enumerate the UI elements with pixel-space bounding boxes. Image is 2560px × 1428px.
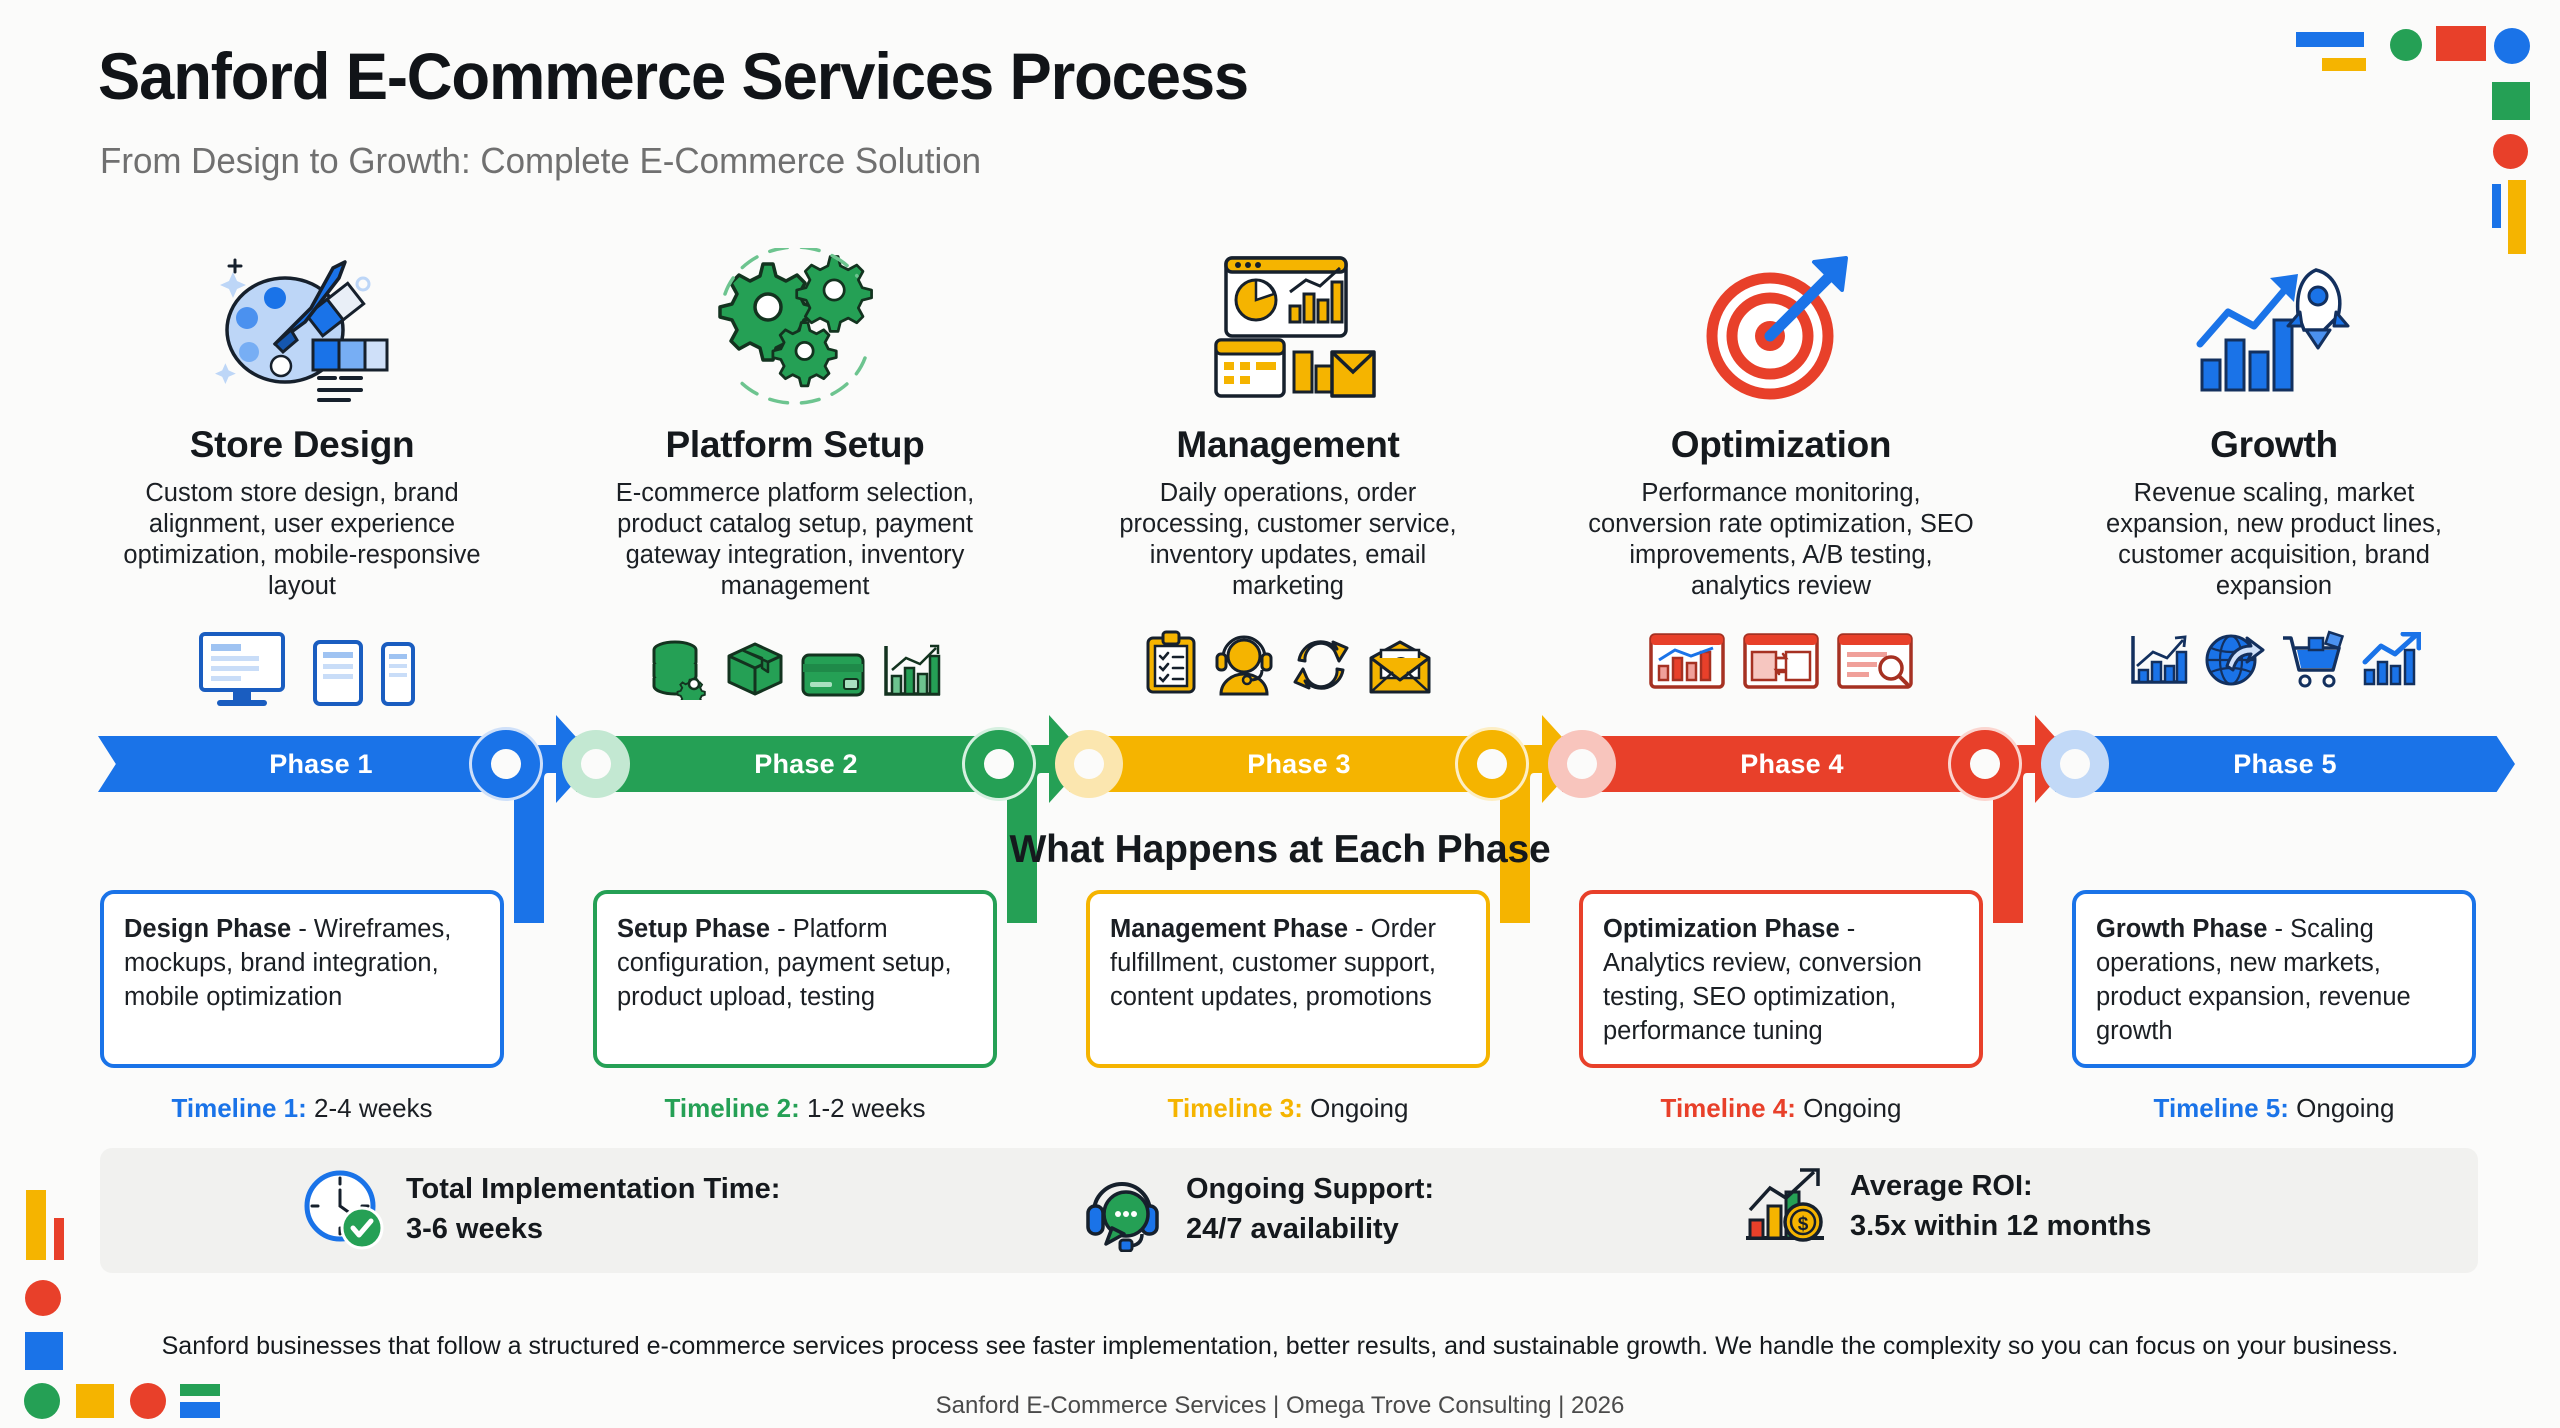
phase-heading: Optimization: [1579, 424, 1983, 466]
deco-blue-bar: [2296, 32, 2364, 47]
globe-share-icon: [2203, 630, 2265, 690]
analytics-report-icon: [1647, 630, 1727, 692]
phase-card-5: Growth Phase - Scaling operations, new m…: [2072, 890, 2476, 1068]
section-title-what-happens: What Happens at Each Phase: [0, 828, 2560, 872]
timeline-value: 2-4 weeks: [314, 1093, 433, 1123]
timeline-1: Timeline 1: 2-4 weeks: [100, 1093, 504, 1124]
page-subtitle: From Design to Growth: Complete E-Commer…: [100, 140, 981, 182]
card-lead: Growth Phase: [2096, 915, 2267, 943]
phase-3-sub-icons: @: [1086, 630, 1490, 696]
stat-value: 24/7 availability: [1186, 1209, 1434, 1249]
phase-card-2: Setup Phase - Platform configuration, pa…: [593, 890, 997, 1068]
phase-bar-label: Phase 5: [2055, 736, 2515, 792]
roi-chart-coin-icon: $: [1740, 1166, 1830, 1246]
timeline-3: Timeline 3: Ongoing: [1086, 1093, 1490, 1124]
clock-check-icon: [300, 1166, 386, 1252]
deco-blue-circle: [2494, 28, 2530, 64]
deco-red-vbar: [54, 1218, 64, 1260]
timeline-5: Timeline 5: Ongoing: [2072, 1093, 2476, 1124]
phase-columns: Store Design Custom store design, brand …: [0, 238, 2560, 718]
svg-text:$: $: [1798, 1214, 1809, 1235]
timeline-value: Ongoing: [2296, 1093, 2394, 1123]
phase-progress-bar: Phase 1 Phase 2 Phase 3 Phase: [0, 736, 2560, 798]
phase-heading: Store Design: [100, 424, 504, 466]
database-gear-icon: [648, 638, 710, 700]
phase-description: Performance monitoring, conversion rate …: [1579, 478, 1983, 602]
credit-card-icon: [800, 650, 866, 700]
timeline-label: Timeline 5:: [2154, 1093, 2289, 1123]
stat-implementation-time: Total Implementation Time: 3-6 weeks: [300, 1166, 780, 1252]
email-envelope-icon: @: [1367, 640, 1433, 696]
phase-description: Daily operations, order processing, cust…: [1086, 478, 1490, 602]
phase-connector-4-start: [1548, 730, 1616, 798]
dashboard-analytics-icon: [1086, 238, 1490, 418]
phase-card-3: Management Phase - Order fulfillment, cu…: [1086, 890, 1490, 1068]
smartphone-icon: [379, 640, 417, 708]
infographic-page: Sanford E-Commerce Services Process From…: [0, 0, 2560, 1428]
phase-connector-3: [1458, 730, 1526, 798]
arrow-phase3-to-phase4: [1456, 693, 1586, 923]
seo-search-page-icon: [1835, 630, 1915, 692]
shopping-cart-icon: [2279, 630, 2345, 690]
desktop-monitor-icon: [187, 630, 297, 708]
phase-2-sub-icons: [593, 638, 997, 700]
decoration-top-right: [2296, 22, 2546, 262]
clipboard-checklist-icon: [1143, 630, 1199, 696]
deco-red-square: [2436, 26, 2486, 61]
arrow-phase4-to-phase5: [1949, 693, 2079, 923]
trending-up-icon: [2359, 632, 2421, 690]
timeline-label: Timeline 4:: [1661, 1093, 1796, 1123]
timeline-label: Timeline 2:: [664, 1093, 799, 1123]
deco-red-circle: [2493, 134, 2528, 169]
phase-connector-2: [965, 730, 1033, 798]
page-title: Sanford E-Commerce Services Process: [98, 38, 1248, 114]
stat-value: 3.5x within 12 months: [1850, 1206, 2151, 1246]
footer-note: Sanford businesses that follow a structu…: [0, 1332, 2560, 1361]
stat-ongoing-support: Ongoing Support: 24/7 availability: [1080, 1166, 1434, 1252]
phase-description: Revenue scaling, market expansion, new p…: [2072, 478, 2476, 602]
phase-1-sub-icons: [100, 630, 504, 708]
palette-brush-icon: [100, 238, 504, 418]
card-lead: Design Phase: [124, 915, 291, 943]
stat-average-roi: $ Average ROI: 3.5x within 12 months: [1740, 1166, 2151, 1246]
phase-column-1: Store Design Custom store design, brand …: [100, 238, 504, 602]
phase-connector-3-start: [1055, 730, 1123, 798]
phase-connector-5-start: [2041, 730, 2109, 798]
card-lead: Optimization Phase: [1603, 915, 1840, 943]
phase-4-sub-icons: [1579, 630, 1983, 692]
phase-column-2: Platform Setup E-commerce platform selec…: [593, 238, 997, 602]
phase-connector-2-start: [562, 730, 630, 798]
timeline-2: Timeline 2: 1-2 weeks: [593, 1093, 997, 1124]
phase-5-sub-icons: [2072, 630, 2476, 690]
summary-stats-strip: Total Implementation Time: 3-6 weeks Ong…: [100, 1148, 2478, 1273]
phase-connector-4: [1951, 730, 2019, 798]
deco-green-square: [2492, 82, 2530, 120]
stat-value: 3-6 weeks: [406, 1209, 780, 1249]
headset-agent-icon: [1213, 632, 1275, 696]
timeline-value: Ongoing: [1310, 1093, 1408, 1123]
headset-support-icon: [1080, 1166, 1166, 1252]
deco-yellow-bar: [2322, 58, 2366, 71]
phase-heading: Management: [1086, 424, 1490, 466]
arrow-phase2-to-phase3: [963, 693, 1093, 923]
footer-credit: Sanford E-Commerce Services | Omega Trov…: [0, 1392, 2560, 1420]
timeline-value: 1-2 weeks: [807, 1093, 926, 1123]
stat-label: Total Implementation Time:: [406, 1169, 780, 1209]
phase-description: Custom store design, brand alignment, us…: [100, 478, 504, 602]
phase-detail-cards: Design Phase - Wireframes, mockups, bran…: [0, 890, 2560, 1070]
timeline-label: Timeline 1:: [171, 1093, 306, 1123]
stat-label: Ongoing Support:: [1186, 1169, 1434, 1209]
arrow-phase1-to-phase2: [470, 693, 600, 923]
card-lead: Setup Phase: [617, 915, 770, 943]
phase-column-4: Optimization Performance monitoring, con…: [1579, 238, 1983, 602]
gears-icon: [593, 238, 997, 418]
stat-label: Average ROI:: [1850, 1166, 2151, 1206]
bar-chart-icon: [880, 642, 942, 700]
phase-heading: Platform Setup: [593, 424, 997, 466]
target-arrow-icon: [1579, 238, 1983, 418]
phase-card-4: Optimization Phase - Analytics review, c…: [1579, 890, 1983, 1068]
phase-column-3: Management Daily operations, order proce…: [1086, 238, 1490, 602]
tablet-icon: [311, 638, 365, 708]
phase-card-1: Design Phase - Wireframes, mockups, bran…: [100, 890, 504, 1068]
phase-bar-5[interactable]: Phase 5: [2055, 736, 2515, 792]
phase-description: E-commerce platform selection, product c…: [593, 478, 997, 602]
timeline-4: Timeline 4: Ongoing: [1579, 1093, 1983, 1124]
package-box-icon: [724, 638, 786, 700]
phase-column-5: Growth Revenue scaling, market expansion…: [2072, 238, 2476, 602]
timeline-value: Ongoing: [1803, 1093, 1901, 1123]
deco-blue-vbar: [2492, 184, 2501, 228]
ab-test-icon: [1741, 630, 1821, 692]
growth-chart-icon: [2127, 632, 2189, 690]
sync-arrows-icon: [1289, 634, 1353, 696]
rocket-growth-icon: [2072, 238, 2476, 418]
phase-heading: Growth: [2072, 424, 2476, 466]
card-lead: Management Phase: [1110, 915, 1348, 943]
phase-connector-1: [472, 730, 540, 798]
timeline-label: Timeline 3:: [1168, 1093, 1303, 1123]
deco-red-circle-2: [25, 1280, 61, 1316]
deco-yellow-vbar-2: [26, 1190, 46, 1260]
deco-green-circle: [2390, 29, 2422, 61]
